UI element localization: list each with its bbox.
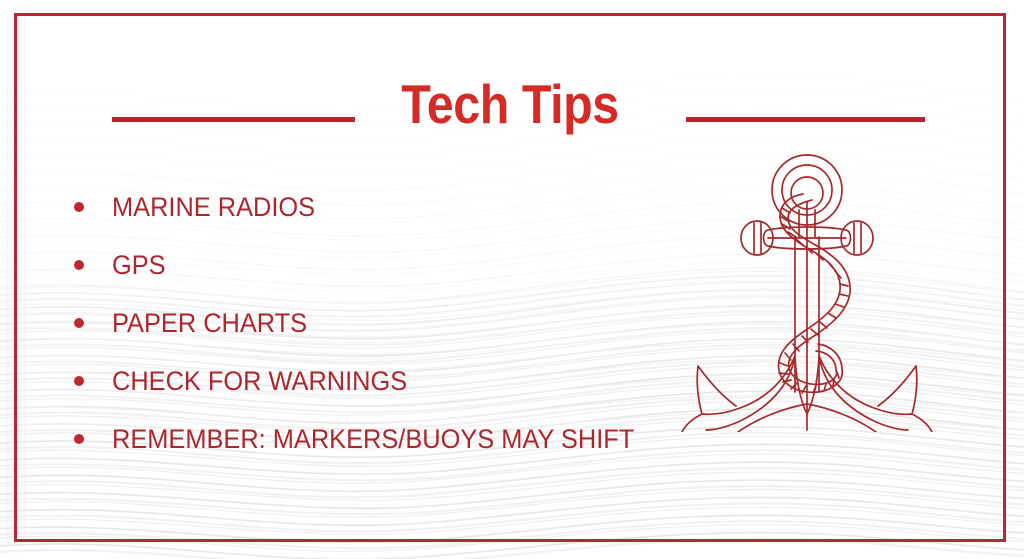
bullet-dot-icon xyxy=(74,376,84,386)
list-item-label: GPS xyxy=(112,250,166,280)
list-item: GPS xyxy=(70,236,750,294)
page-title: Tech Tips xyxy=(74,72,947,136)
title-rule-right-icon xyxy=(686,117,925,122)
list-item-label: PAPER CHARTS xyxy=(112,308,307,338)
list-item: PAPER CHARTS xyxy=(70,294,750,352)
slide-canvas: Tech Tips MARINE RADIOS GPS PAPER CHARTS… xyxy=(0,0,1024,559)
title-block: Tech Tips xyxy=(14,72,1006,138)
bullet-dot-icon xyxy=(74,202,84,212)
tips-list: MARINE RADIOS GPS PAPER CHARTS CHECK FOR… xyxy=(70,178,750,468)
bullet-dot-icon xyxy=(74,318,84,328)
list-item-label: CHECK FOR WARNINGS xyxy=(112,366,407,396)
list-item: REMEMBER: MARKERS/BUOYS MAY SHIFT xyxy=(70,410,750,468)
bullet-dot-icon xyxy=(74,260,84,270)
bullet-dot-icon xyxy=(74,434,84,444)
list-item-label: MARINE RADIOS xyxy=(112,192,315,222)
list-item-label: REMEMBER: MARKERS/BUOYS MAY SHIFT xyxy=(112,424,634,454)
list-item: CHECK FOR WARNINGS xyxy=(70,352,750,410)
list-item: MARINE RADIOS xyxy=(70,178,750,236)
